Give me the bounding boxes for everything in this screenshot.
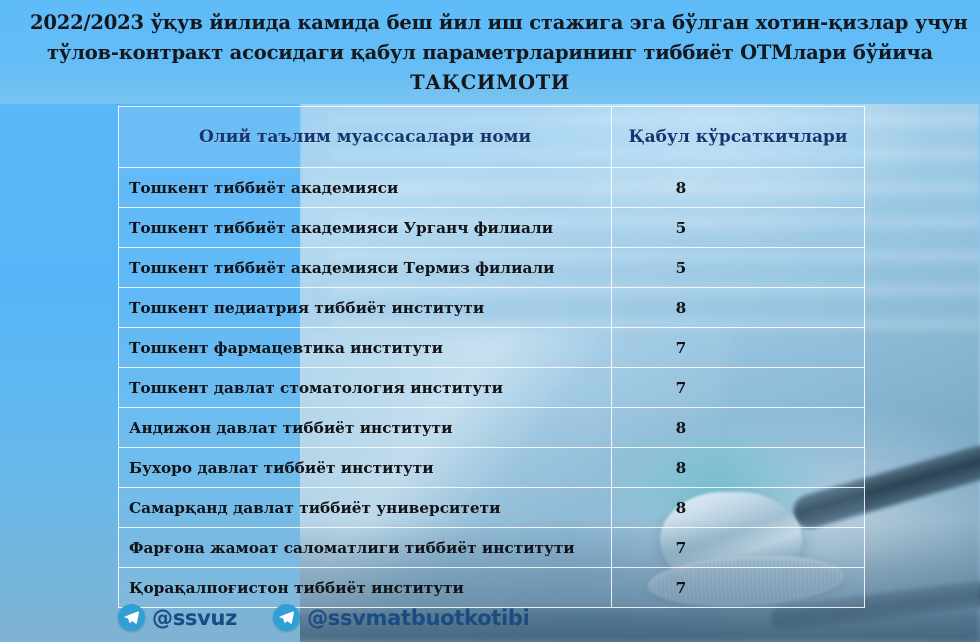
cell-institution-name: Тошкент тиббиёт академияси <box>119 168 612 208</box>
telegram-icon <box>273 604 300 631</box>
title-line-2: тўлов-контракт асосидаги қабул параметрл… <box>30 38 950 68</box>
cell-quota-value: 7 <box>612 328 865 368</box>
cell-quota-value: 8 <box>612 488 865 528</box>
cell-institution-name: Тошкент педиатрия тиббиёт институти <box>119 288 612 328</box>
cell-institution-name: Тошкент фармацевтика институти <box>119 328 612 368</box>
cell-quota-value: 8 <box>612 408 865 448</box>
cell-quota-value: 8 <box>612 288 865 328</box>
cell-quota-value: 8 <box>612 168 865 208</box>
column-header-quota: Қабул кўрсаткичлари <box>612 107 865 168</box>
cell-institution-name: Тошкент тиббиёт академияси Термиз филиал… <box>119 248 612 288</box>
data-table-container: Олий таълим муассасалари номи Қабул кўрс… <box>118 106 864 608</box>
telegram-handle-label: @ssvuz <box>152 606 237 630</box>
title-line-3: ТАҚСИМОТИ <box>30 68 950 98</box>
cell-institution-name: Самарқанд давлат тиббиёт университети <box>119 488 612 528</box>
table-row: Қорақалпоғистон тиббиёт институти7 <box>119 568 865 608</box>
table-row: Тошкент тиббиёт академияси Урганч филиал… <box>119 208 865 248</box>
cell-quota-value: 8 <box>612 448 865 488</box>
poster-content: 2022/2023 ўқув йилида камида беш йил иш … <box>0 0 980 642</box>
cell-quota-value: 5 <box>612 248 865 288</box>
title-line-1: 2022/2023 ўқув йилида камида беш йил иш … <box>30 8 950 38</box>
table-row: Бухоро давлат тиббиёт институти8 <box>119 448 865 488</box>
column-header-institution: Олий таълим муассасалари номи <box>119 107 612 168</box>
cell-quota-value: 7 <box>612 568 865 608</box>
telegram-handle-ssvuz[interactable]: @ssvuz <box>118 604 237 631</box>
page-title: 2022/2023 ўқув йилида камида беш йил иш … <box>0 0 980 98</box>
table-row: Андижон давлат тиббиёт институти8 <box>119 408 865 448</box>
cell-institution-name: Қорақалпоғистон тиббиёт институти <box>119 568 612 608</box>
table-row: Тошкент педиатрия тиббиёт институти8 <box>119 288 865 328</box>
table-row: Тошкент тиббиёт академияси8 <box>119 168 865 208</box>
cell-institution-name: Тошкент тиббиёт академияси Урганч филиал… <box>119 208 612 248</box>
table-body: Тошкент тиббиёт академияси8Тошкент тибби… <box>119 168 865 608</box>
table-row: Тошкент фармацевтика институти7 <box>119 328 865 368</box>
table-header: Олий таълим муассасалари номи Қабул кўрс… <box>119 107 865 168</box>
table-row: Тошкент давлат стоматология институти7 <box>119 368 865 408</box>
telegram-handle-label: @ssvmatbuotkotibi <box>307 606 529 630</box>
cell-quota-value: 7 <box>612 368 865 408</box>
cell-institution-name: Тошкент давлат стоматология институти <box>119 368 612 408</box>
telegram-handle-ssvmatbuotkotibi[interactable]: @ssvmatbuotkotibi <box>273 604 529 631</box>
table-header-row: Олий таълим муассасалари номи Қабул кўрс… <box>119 107 865 168</box>
table-row: Фарғона жамоат саломатлиги тиббиёт инсти… <box>119 528 865 568</box>
cell-quota-value: 5 <box>612 208 865 248</box>
table-row: Тошкент тиббиёт академияси Термиз филиал… <box>119 248 865 288</box>
cell-institution-name: Бухоро давлат тиббиёт институти <box>119 448 612 488</box>
cell-quota-value: 7 <box>612 528 865 568</box>
table-row: Самарқанд давлат тиббиёт университети8 <box>119 488 865 528</box>
footer-handles: @ssvuz @ssvmatbuotkotibi <box>118 604 530 631</box>
cell-institution-name: Фарғона жамоат саломатлиги тиббиёт инсти… <box>119 528 612 568</box>
cell-institution-name: Андижон давлат тиббиёт институти <box>119 408 612 448</box>
admission-table: Олий таълим муассасалари номи Қабул кўрс… <box>118 106 865 608</box>
telegram-icon <box>118 604 145 631</box>
